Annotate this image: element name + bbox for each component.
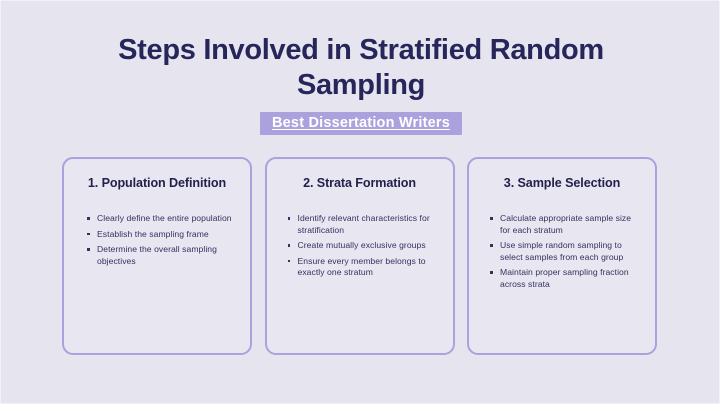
step-card-bullet-list: Clearly define the entire population Est… — [75, 213, 239, 267]
badge-row: Best Dissertation Writers — [1, 112, 720, 135]
step-card-bullet-list: Identify relevant characteristics for st… — [278, 213, 442, 279]
list-item: Ensure every member belongs to exactly o… — [298, 256, 440, 279]
list-item: Determine the overall sampling objective… — [97, 244, 237, 267]
step-card-title: 2. Strata Formation — [278, 175, 442, 191]
step-card-title: 1. Population Definition — [75, 175, 239, 191]
slide: Steps Involved in Stratified Random Samp… — [0, 0, 720, 404]
list-item: Establish the sampling frame — [97, 229, 237, 241]
steps-card-group: 1. Population Definition Clearly define … — [62, 157, 657, 355]
list-item: Calculate appropriate sample size for ea… — [500, 213, 642, 236]
step-card-strata-formation: 2. Strata Formation Identify relevant ch… — [265, 157, 455, 355]
brand-badge[interactable]: Best Dissertation Writers — [260, 112, 462, 135]
list-item: Identify relevant characteristics for st… — [298, 213, 440, 236]
step-card-population-definition: 1. Population Definition Clearly define … — [62, 157, 252, 355]
list-item: Clearly define the entire population — [97, 213, 237, 225]
step-card-sample-selection: 3. Sample Selection Calculate appropriat… — [467, 157, 657, 355]
slide-header: Steps Involved in Stratified Random Samp… — [1, 33, 720, 135]
list-item: Use simple random sampling to select sam… — [500, 240, 642, 263]
step-card-bullet-list: Calculate appropriate sample size for ea… — [480, 213, 644, 291]
step-card-title: 3. Sample Selection — [480, 175, 644, 191]
list-item: Create mutually exclusive groups — [298, 240, 440, 252]
page-title: Steps Involved in Stratified Random Samp… — [81, 33, 641, 103]
list-item: Maintain proper sampling fraction across… — [500, 267, 642, 290]
